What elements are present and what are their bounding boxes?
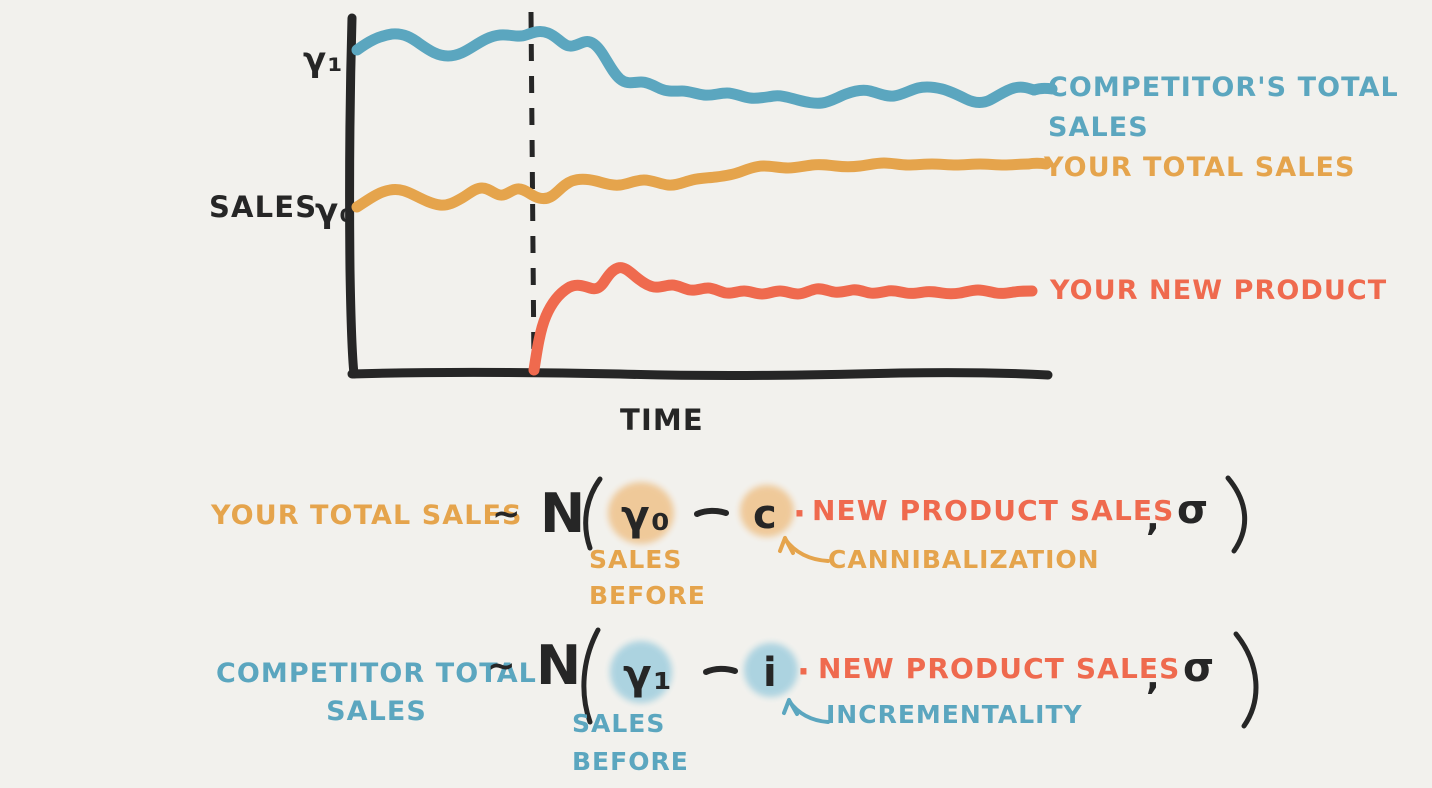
y-axis-label: SALES xyxy=(209,190,317,224)
eq1-sigma: σ xyxy=(1177,487,1210,533)
eq1-distribution-symbol: N xyxy=(540,482,587,545)
eq2-term2-new-product-sales: NEW PRODUCT SALES xyxy=(818,652,1180,685)
eq1-coefficient-note: CANNIBALIZATION xyxy=(828,545,1100,574)
legend-label-competitor-total-sales[interactable]: COMPETITOR'S TOTAL SALES xyxy=(1048,68,1399,148)
eq1-term2-new-product-sales: NEW PRODUCT SALES xyxy=(812,494,1174,527)
eq2-coefficient-note: INCREMENTALITY xyxy=(826,700,1083,729)
legend-label-your-new-product[interactable]: YOUR NEW PRODUCT xyxy=(1050,275,1387,306)
eq1-term1-gamma0: γ₀ xyxy=(621,491,671,540)
eq2-dot-operator: · xyxy=(797,652,811,692)
whiteboard-canvas: γ₁ SALES γ₀ TIME COMPETITOR'S TOTAL SALE… xyxy=(0,0,1432,788)
legend-label-your-total-sales[interactable]: YOUR TOTAL SALES xyxy=(1044,152,1356,183)
eq1-comma: , xyxy=(1146,498,1161,539)
y-axis-tick-lower: γ₀ xyxy=(315,191,356,231)
x-axis xyxy=(352,373,1048,376)
eq2-term1-note: SALES BEFORE xyxy=(572,705,689,781)
y-axis-tick-upper: γ₁ xyxy=(303,40,344,80)
eq2-coefficient-i: i xyxy=(763,650,778,696)
x-axis-label: TIME xyxy=(620,403,704,437)
eq1-lhs-label: YOUR TOTAL SALES xyxy=(211,500,523,531)
eq2-term1-gamma1: γ₁ xyxy=(623,650,673,699)
eq1-coefficient-c: c xyxy=(753,492,778,538)
eq2-comma: , xyxy=(1146,657,1161,698)
eq1-minus-sign xyxy=(697,511,726,514)
eq1-term1-note: SALES BEFORE xyxy=(589,542,706,614)
eq2-minus-sign xyxy=(706,669,735,672)
eq1-tilde: ~ xyxy=(492,494,522,534)
legend-marker-new-product-icon xyxy=(1014,291,1032,292)
eq2-sigma: σ xyxy=(1183,645,1216,691)
eq2-distribution-symbol: N xyxy=(536,634,583,697)
eq1-dot-operator: · xyxy=(793,494,807,534)
eq2-tilde: ~ xyxy=(487,646,517,686)
